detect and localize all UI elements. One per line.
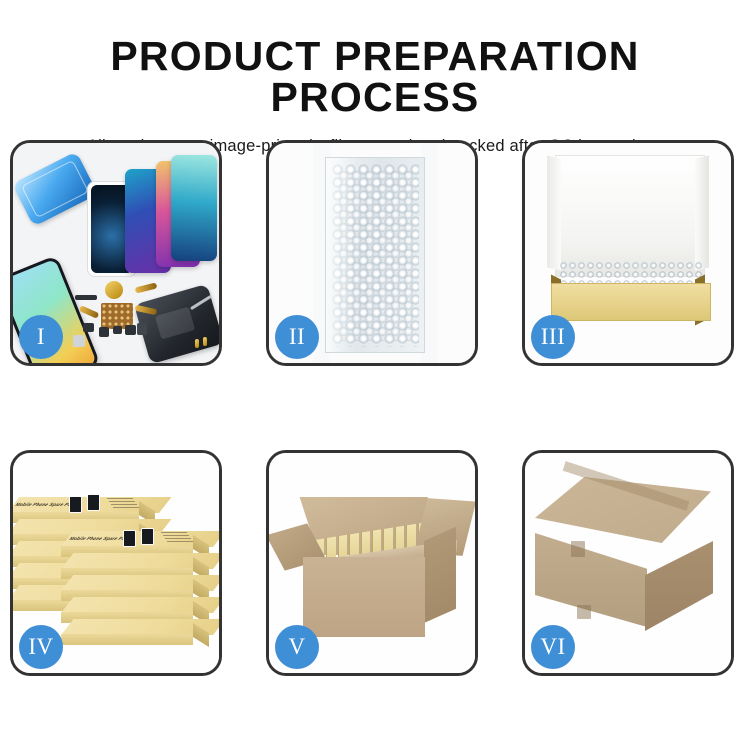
process-step-panel-4: Mobile Phone Spare Parts [10,450,222,676]
retail-box-stack-item [61,619,213,641]
page-title: PRODUCT PREPARATION PROCESS [0,36,750,118]
step-badge-4: IV [19,625,63,669]
step-badge-1: I [19,315,63,359]
retail-box-stack-item: Mobile Phone Spare Parts [61,531,213,553]
yellow-box-base [551,283,711,321]
carton-right-side [424,527,456,623]
process-step-panel-3: III [522,140,734,366]
retail-box-thumbnail-b [87,494,100,511]
carton-flap-tab-bottom [577,605,591,619]
carton-front-face [303,557,425,637]
retail-box-stack-item: Mobile Phone Spare Parts [13,497,159,519]
step-badge-2: II [275,315,319,359]
retail-box-stack-item [61,575,213,597]
step-badge-5: V [275,625,319,669]
part-camera-module [137,323,147,335]
part-small-chip-d [125,325,136,335]
white-box-lid [555,155,705,277]
part-small-chip-b [99,327,109,337]
part-small-chip-a [83,323,94,332]
retail-box-stack-item [61,597,213,619]
step-badge-6: VI [531,625,575,669]
pouch-highlight [326,158,357,352]
retail-box-stack-item [61,553,213,575]
part-connector-strip [75,295,97,300]
part-screw-a [195,339,199,348]
part-sim-tray [73,335,85,347]
part-screw-b [203,337,207,346]
process-step-grid: I II [10,140,740,676]
part-gold-disc [105,281,123,299]
retail-box-thumbnail-a [123,530,136,547]
process-step-panel-1: I [10,140,222,366]
process-step-panel-6: VI [522,450,734,676]
lid-right-fold [695,156,709,271]
process-step-panel-2: II [266,140,478,366]
part-small-chip-c [113,326,122,334]
lid-left-fold [547,156,561,271]
retail-box-thumbnail-b [141,528,154,545]
bubble-pouch [325,157,425,353]
process-step-panel-5: V [266,450,478,676]
header: PRODUCT PREPARATION PROCESS All products… [0,0,750,156]
retail-box-thumbnail-a [69,496,82,513]
infographic-root: PRODUCT PREPARATION PROCESS All products… [0,0,750,750]
carton-flap-tab-top [571,541,585,557]
blue-wave-phone-screen [171,155,217,261]
step-badge-3: III [531,315,575,359]
